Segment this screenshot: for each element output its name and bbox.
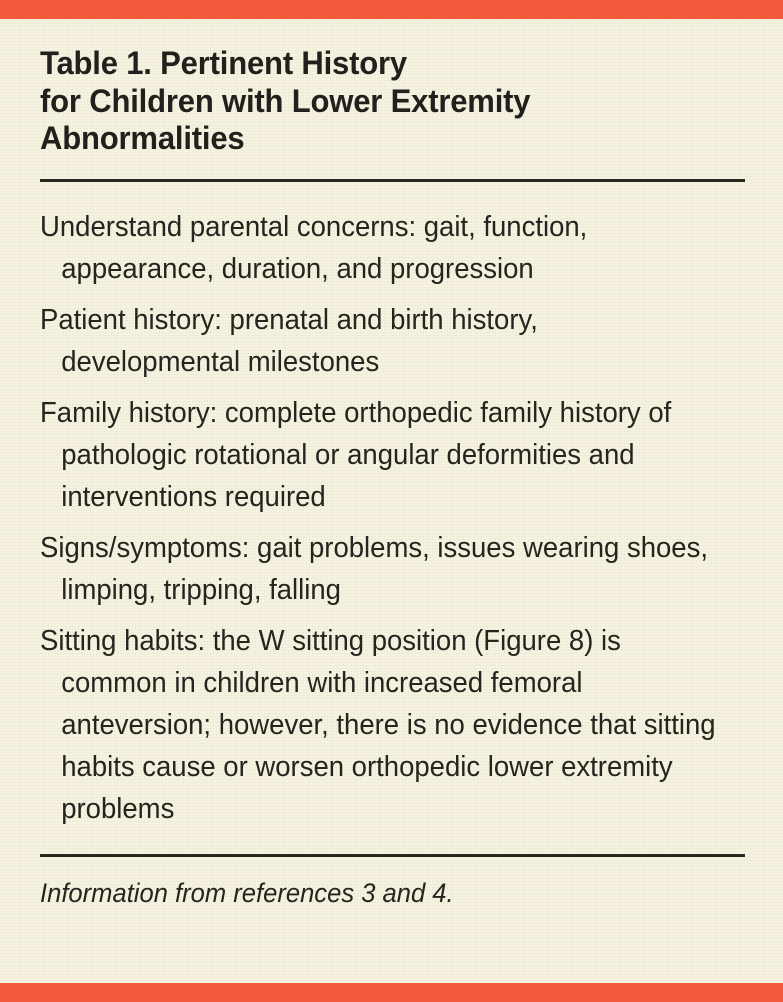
list-item: Understand parental concerns: gait, func… (40, 206, 721, 290)
list-item: Patient history: prenatal and birth hist… (40, 299, 721, 383)
bottom-accent-bar (0, 983, 783, 1002)
top-accent-bar (0, 0, 783, 19)
list-item: Signs/symptoms: gait problems, issues we… (40, 527, 721, 611)
pertinent-history-list: Understand parental concerns: gait, func… (40, 206, 746, 830)
table-figure-page: Table 1. Pertinent History for Children … (0, 0, 783, 1002)
title-divider-rule (40, 179, 745, 182)
source-footnote: Information from references 3 and 4. (40, 857, 721, 908)
table-content: Table 1. Pertinent History for Children … (40, 19, 746, 908)
list-item: Sitting habits: the W sitting position (… (40, 620, 721, 830)
page-title: Table 1. Pertinent History for Children … (40, 19, 714, 158)
list-item: Family history: complete orthopedic fami… (40, 392, 721, 518)
